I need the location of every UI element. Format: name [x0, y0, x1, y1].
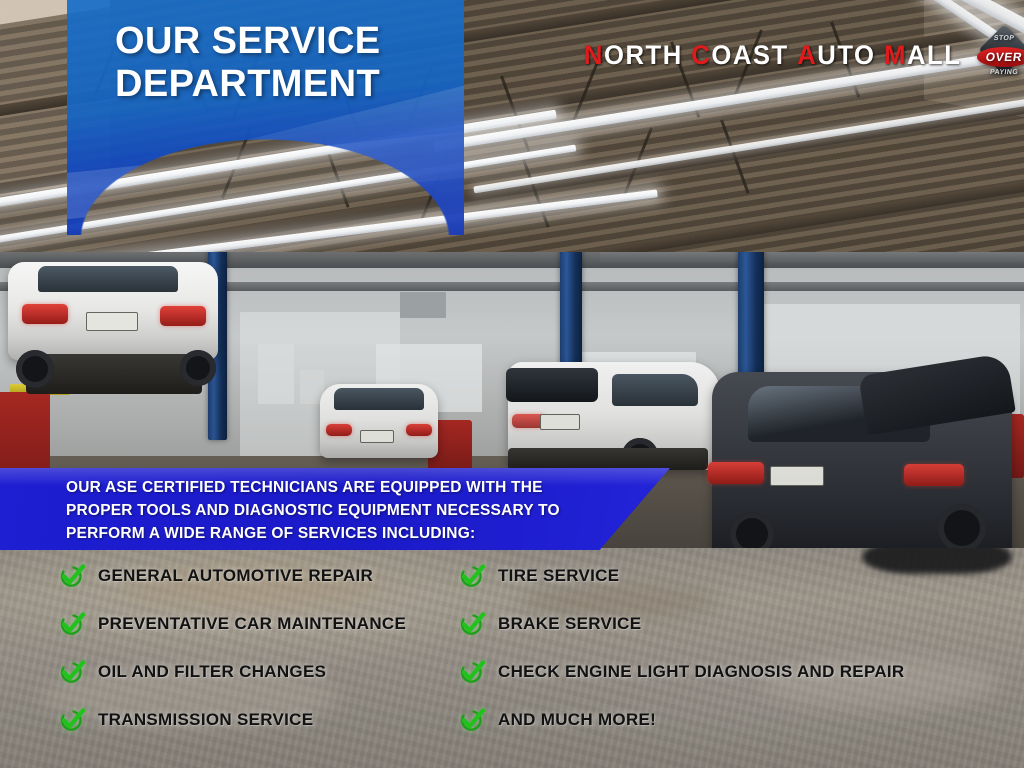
service-label: TIRE SERVICE	[498, 566, 619, 586]
badge-top-text: STOP	[979, 35, 1024, 42]
statement-banner: OUR ASE CERTIFIED TECHNICIANS ARE EQUIPP…	[0, 468, 670, 550]
badge-middle-text: OVER	[978, 50, 1024, 64]
statement-line-1: OUR ASE CERTIFIED TECHNICIANS ARE EQUIPP…	[66, 477, 626, 500]
license-plate	[360, 430, 394, 443]
wheel	[938, 504, 986, 552]
statement-line-2: PROPER TOOLS AND DIAGNOSTIC EQUIPMENT NE…	[66, 500, 626, 523]
services-column-left: GENERAL AUTOMOTIVE REPAIR PREVENTATIVE C…	[60, 552, 470, 744]
service-item: AND MUCH MORE!	[460, 696, 1020, 744]
service-item: TIRE SERVICE	[460, 552, 1020, 600]
tail-light	[326, 424, 352, 436]
service-item: OIL AND FILTER CHANGES	[60, 648, 470, 696]
logo-wordmark: NORTHCOASTAUTOMALL	[584, 42, 961, 69]
checkmark-icon	[460, 612, 486, 636]
checkmark-icon	[60, 660, 86, 684]
electrical-panel	[258, 344, 294, 404]
checkmark-icon	[460, 660, 486, 684]
title-line-2: DEPARTMENT	[115, 63, 454, 106]
tail-light	[160, 306, 206, 326]
logo-rest-mall: ALL	[907, 40, 961, 70]
title-line-1: OUR SERVICE	[115, 20, 454, 63]
service-item: GENERAL AUTOMOTIVE REPAIR	[60, 552, 470, 600]
vent-grille	[400, 292, 446, 318]
service-label: CHECK ENGINE LIGHT DIAGNOSIS AND REPAIR	[498, 662, 905, 682]
logo-cap-a: A	[797, 40, 817, 70]
service-item: TRANSMISSION SERVICE	[60, 696, 470, 744]
tail-light	[904, 464, 964, 486]
license-plate	[86, 312, 138, 331]
wheel	[730, 512, 774, 552]
license-plate	[770, 466, 824, 486]
logo-cap-n: N	[584, 40, 604, 70]
vehicle-dark-sedan	[712, 372, 1012, 552]
wheel	[180, 350, 216, 386]
rear-window	[334, 388, 424, 410]
service-label: OIL AND FILTER CHANGES	[98, 662, 326, 682]
rear-window	[38, 266, 178, 292]
statement-text: OUR ASE CERTIFIED TECHNICIANS ARE EQUIPP…	[66, 477, 626, 545]
tail-light	[22, 304, 68, 324]
service-item: PREVENTATIVE CAR MAINTENANCE	[60, 600, 470, 648]
service-department-banner: OUR SERVICE DEPARTMENT NORTHCOASTAUTOMAL…	[0, 0, 1024, 768]
services-column-right: TIRE SERVICE BRAKE SERVICE	[460, 552, 1020, 744]
vehicle-white-sedan-lifted	[8, 262, 218, 360]
logo-rest-north: ORTH	[604, 40, 683, 70]
ceiling-beam	[600, 252, 1024, 263]
stop-over-paying-badge: STOP OVER PAYING	[979, 28, 1024, 82]
service-item: CHECK ENGINE LIGHT DIAGNOSIS AND REPAIR	[460, 648, 1020, 696]
wheel	[16, 350, 54, 388]
checkmark-icon	[460, 708, 486, 732]
logo-cap-c: C	[691, 40, 711, 70]
service-item: BRAKE SERVICE	[460, 600, 1020, 648]
logo-rest-coast: OAST	[711, 40, 788, 70]
checkmark-icon	[60, 708, 86, 732]
logo-rest-auto: UTO	[817, 40, 875, 70]
tail-light	[406, 424, 432, 436]
liftgate-glass	[506, 368, 598, 402]
vehicle-white-suv	[508, 362, 720, 470]
service-label: AND MUCH MORE!	[498, 710, 656, 730]
service-label: PREVENTATIVE CAR MAINTENANCE	[98, 614, 406, 634]
checkmark-icon	[60, 612, 86, 636]
title-panel: OUR SERVICE DEPARTMENT	[67, 0, 464, 235]
tail-light	[708, 462, 764, 484]
side-window	[612, 374, 698, 406]
logo-cap-m: M	[884, 40, 907, 70]
service-label: BRAKE SERVICE	[498, 614, 641, 634]
badge-bottom-text: PAYING	[979, 69, 1024, 76]
checkmark-icon	[460, 564, 486, 588]
license-plate	[540, 414, 580, 430]
checkmark-icon	[60, 564, 86, 588]
services-list: GENERAL AUTOMOTIVE REPAIR PREVENTATIVE C…	[0, 552, 1024, 768]
brand-logo[interactable]: NORTHCOASTAUTOMALL STOP OVER PAYING	[574, 28, 1024, 82]
vehicle-white-sedan-center	[320, 384, 438, 458]
page-title: OUR SERVICE DEPARTMENT	[115, 20, 454, 105]
service-label: TRANSMISSION SERVICE	[98, 710, 313, 730]
service-label: GENERAL AUTOMOTIVE REPAIR	[98, 566, 373, 586]
underbody	[508, 448, 708, 470]
statement-line-3: PERFORM A WIDE RANGE OF SERVICES INCLUDI…	[66, 523, 626, 546]
